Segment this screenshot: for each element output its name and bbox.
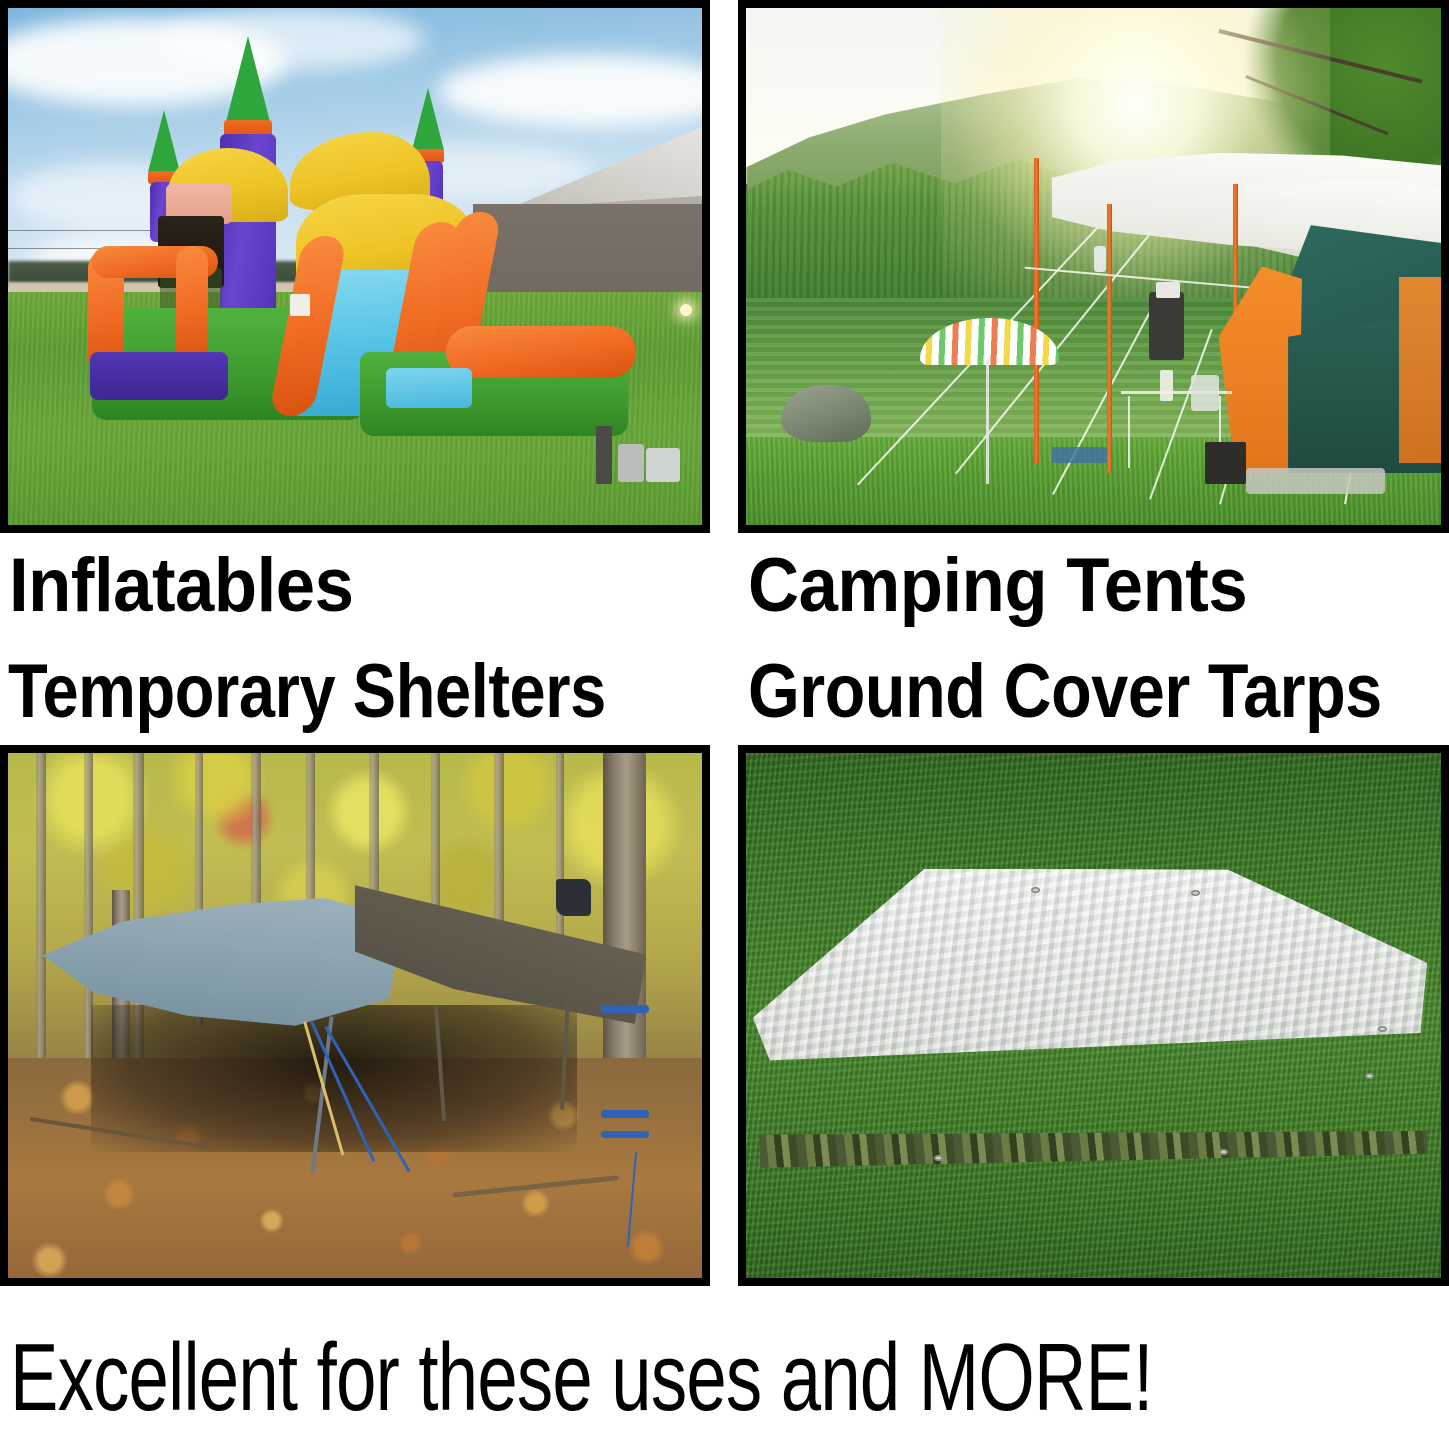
orange-rail-mid — [176, 246, 208, 366]
camp-lantern — [1191, 375, 1219, 411]
grommet — [1365, 1073, 1374, 1079]
shelter-photo — [8, 753, 702, 1278]
canopy-pole — [1034, 158, 1039, 463]
rope-wrap — [601, 1005, 650, 1013]
gear-bag — [1205, 442, 1247, 483]
inflatables-photo-frame — [0, 0, 710, 533]
tent-side-panel — [1399, 277, 1441, 463]
shelter-photo-frame — [0, 745, 710, 1286]
tree-canopy — [1219, 8, 1441, 168]
camera-lens — [1156, 282, 1180, 298]
ground-cover-photo-frame — [738, 745, 1449, 1286]
yard-post — [596, 426, 612, 484]
splash-pool-bumper — [446, 326, 636, 378]
grommet — [1191, 890, 1200, 896]
hanging-cloth — [556, 879, 591, 916]
ground-cover-photo — [746, 753, 1441, 1278]
ground-sheet — [1052, 447, 1108, 463]
caption-temporary-shelters: Temporary Shelters — [8, 654, 606, 730]
rock — [781, 385, 871, 442]
spire-center — [226, 36, 270, 122]
umbrella-pole — [986, 360, 989, 484]
info-tag — [290, 294, 310, 316]
string-light — [680, 304, 692, 316]
footer-tagline: Excellent for these uses and MORE! — [10, 1330, 1153, 1426]
grommet — [1031, 887, 1040, 893]
spire-right — [412, 88, 444, 150]
bucket — [618, 444, 644, 482]
rope-wrap — [601, 1110, 650, 1118]
grommet — [934, 1155, 943, 1161]
camp-table-leg — [1128, 396, 1130, 468]
sleeping-pad — [1246, 468, 1385, 494]
lantern — [1094, 246, 1106, 272]
spire-left — [148, 110, 180, 172]
canopy-pole — [1107, 204, 1112, 473]
cloud — [161, 8, 425, 70]
purple-skirt-left — [90, 352, 228, 400]
water-bottle — [1160, 370, 1174, 401]
camping-photo-frame — [738, 0, 1449, 533]
caption-ground-cover-tarps: Ground Cover Tarps — [748, 654, 1382, 730]
caption-inflatables: Inflatables — [9, 548, 353, 624]
rope-wrap — [601, 1131, 650, 1138]
caption-camping-tents: Camping Tents — [748, 548, 1247, 624]
tent-door — [1288, 318, 1399, 473]
camping-photo — [746, 8, 1441, 525]
camera-on-tripod — [1149, 292, 1184, 359]
bucket — [646, 448, 680, 482]
splash-pool-water — [386, 368, 472, 408]
promo-collage: Inflatables Camping Tents Temporary Shel… — [0, 0, 1449, 1420]
inflatables-photo — [8, 8, 702, 525]
